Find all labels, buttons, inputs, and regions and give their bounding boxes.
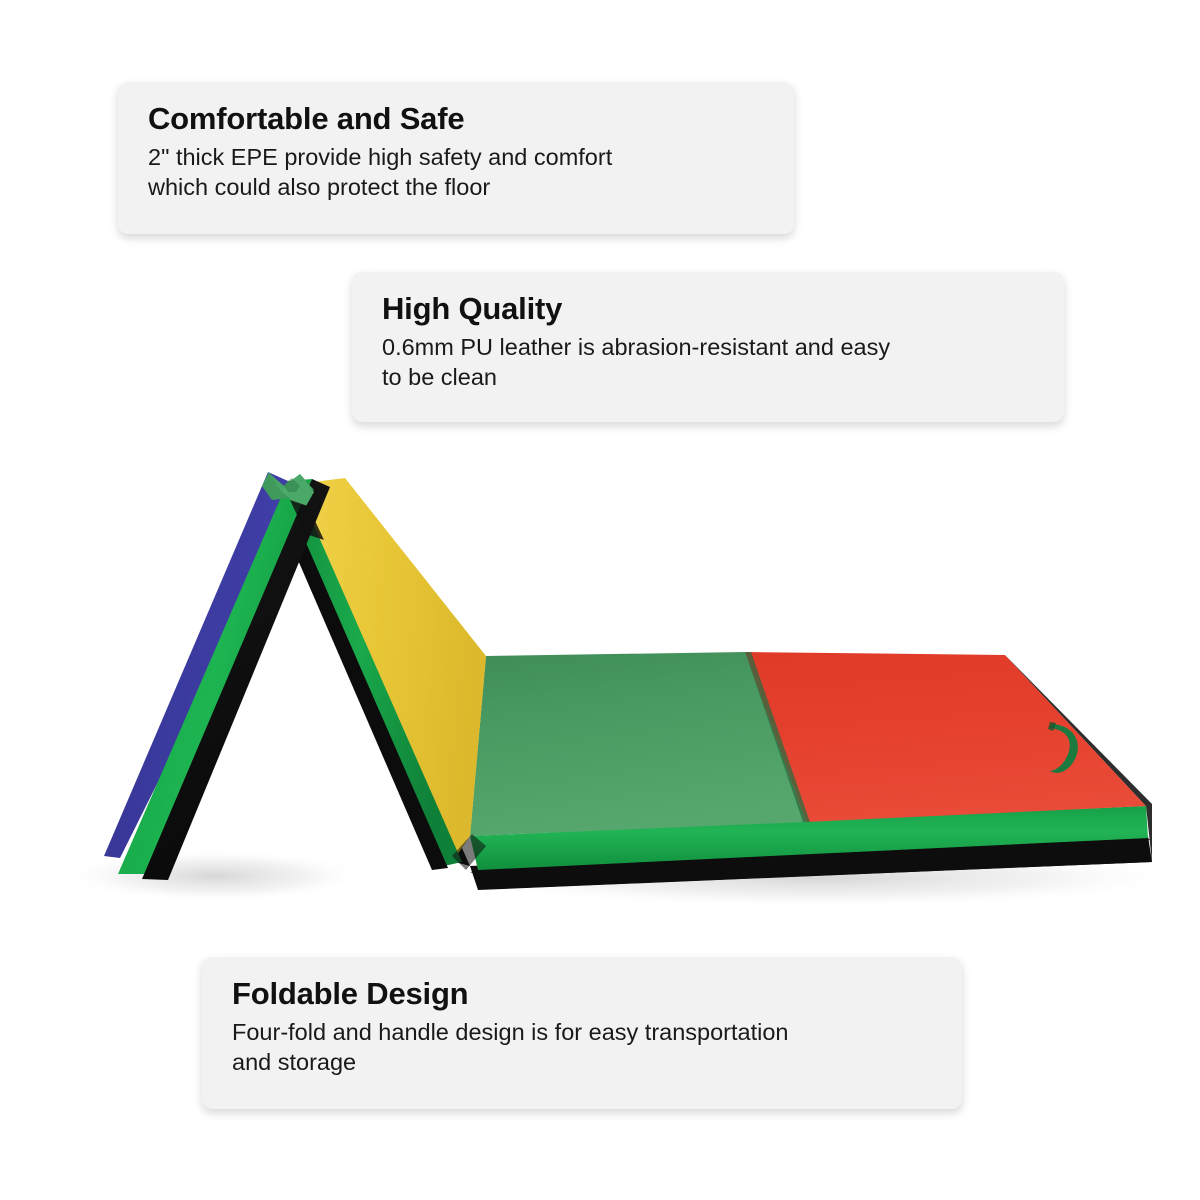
feature-card-foldable-design: Foldable Design Four-fold and handle des… [202,957,962,1109]
feature-card-comfortable-and-safe: Comfortable and Safe 2" thick EPE provid… [118,82,794,234]
feature-title: High Quality [382,292,1038,327]
feature-body: 2" thick EPE provide high safety and com… [148,142,768,203]
fold-contact-shadow [452,834,486,870]
feature-body-line-2: which could also protect the floor [148,174,490,200]
feature-body-line-1: 2" thick EPE provide high safety and com… [148,144,612,170]
infographic-stage: Comfortable and Safe 2" thick EPE provid… [0,0,1200,1200]
flat-underside [470,836,1152,888]
green-panel-top [470,652,806,836]
inner-fold-crease [290,500,324,540]
flat-right-endcap [1005,655,1152,862]
blue-panel-trim [118,479,312,874]
apex-v-notch [283,478,300,492]
carry-handle-shadow [1048,722,1056,731]
green-red-seam [745,652,810,822]
flat-underside-body [470,836,1152,890]
yellow-underside [296,495,470,866]
yellow-panel-trim [284,494,462,866]
yellow-panel-face [300,478,486,858]
feature-body-line-1: Four-fold and handle design is for easy … [232,1019,789,1045]
feature-body: 0.6mm PU leather is abrasion-resistant a… [382,332,1038,393]
feature-body-line-2: and storage [232,1049,356,1075]
flat-front-trim [470,806,1148,870]
feature-title: Foldable Design [232,977,936,1012]
apex-spine-green-face [284,474,314,506]
blue-panel-face [104,472,288,858]
yellow-panel-lower [300,498,486,858]
apex-spine-green [268,472,314,498]
feature-body-line-2: to be clean [382,364,497,390]
floor-shadow-left [65,850,365,902]
floor-shadow-right [450,848,1190,908]
feature-card-high-quality: High Quality 0.6mm PU leather is abrasio… [352,272,1064,422]
blue-panel-shadow-strip [142,479,330,880]
feature-title: Comfortable and Safe [148,102,768,137]
feature-body-line-1: 0.6mm PU leather is abrasion-resistant a… [382,334,890,360]
carry-handle-icon [1050,724,1078,773]
yellow-panel-shadow-strip [272,497,448,870]
apex-fold-wedge [262,474,290,500]
red-panel-top [745,652,1146,822]
feature-body: Four-fold and handle design is for easy … [232,1017,936,1078]
